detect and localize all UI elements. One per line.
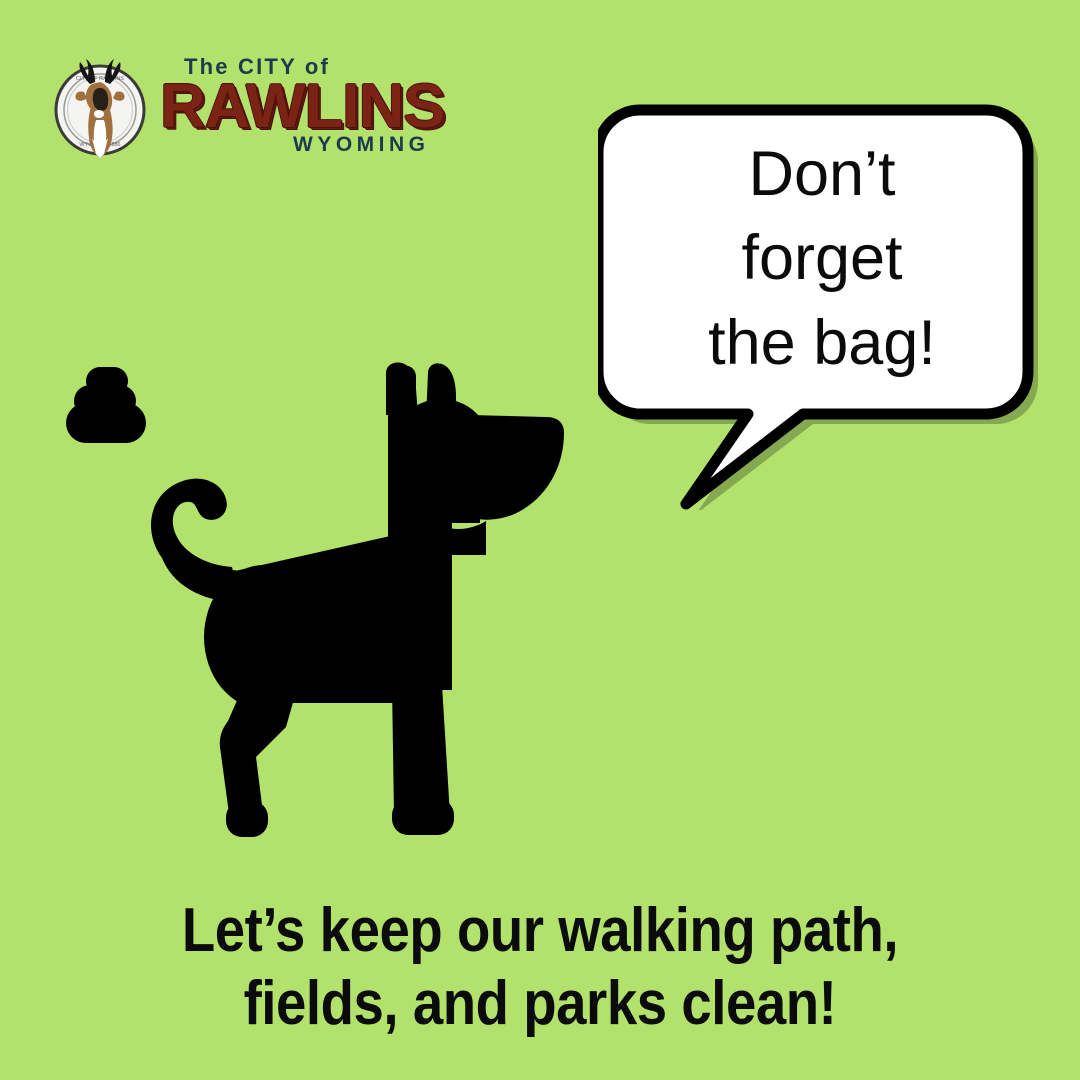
wordmark-line-wyoming: WYOMING [293,134,430,155]
dog-waste-silhouette [66,367,146,443]
poster-canvas: CITY OF RAWLINS WYOMING 1886 T [0,0,1080,1080]
speech-bubble: Don’t forget the bag! [598,100,1038,510]
dog-silhouette [151,362,564,837]
bubble-line-2: forget [628,216,1016,300]
caption-line-2: fields, and parks clean! [65,968,1015,1041]
city-seal-icon: CITY OF RAWLINS WYOMING 1886 [48,54,152,158]
svg-text:CITY OF RAWLINS: CITY OF RAWLINS [76,76,124,82]
wordmark-line-rawlins: RAWLINS [160,76,444,138]
bubble-line-1: Don’t [628,132,1016,216]
city-wordmark: The CITY of RAWLINS WYOMING [160,52,400,160]
speech-bubble-text: Don’t forget the bag! [628,132,1016,385]
caption-line-1: Let’s keep our walking path, [65,895,1015,968]
illustration-dog-and-waste [50,355,610,845]
city-logo: CITY OF RAWLINS WYOMING 1886 T [48,52,398,162]
caption-text: Let’s keep our walking path, fields, and… [0,895,1080,1040]
bubble-line-3: the bag! [628,301,1016,385]
